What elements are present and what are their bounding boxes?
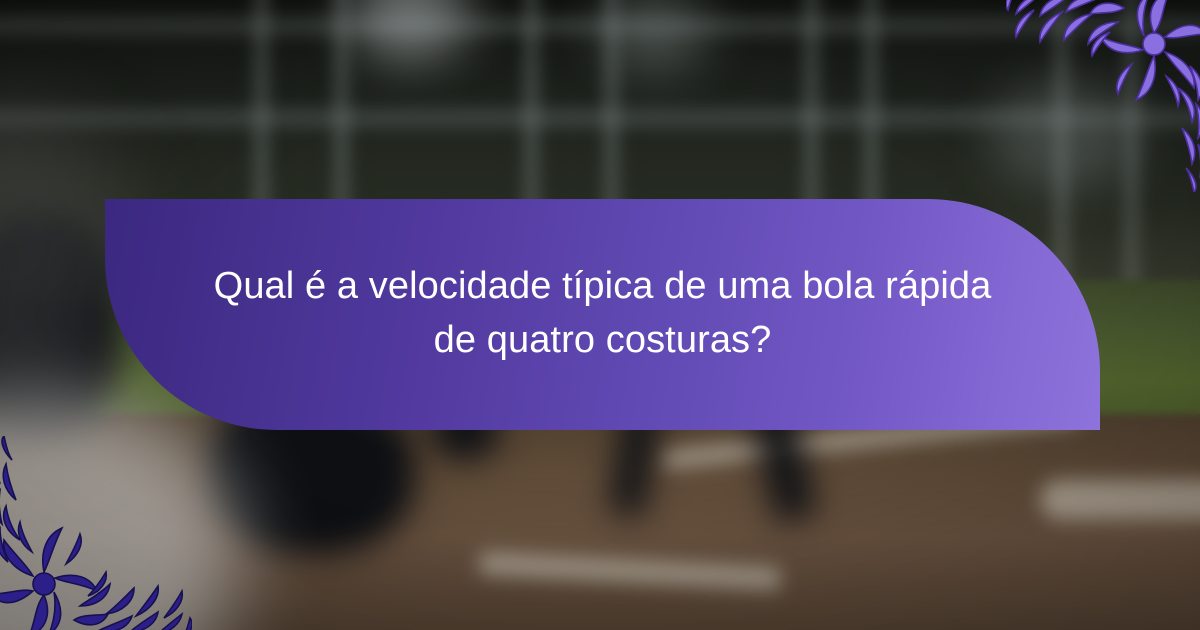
- floral-damask-corner-icon: [1006, 0, 1200, 192]
- question-text: Qual é a velocidade típica de uma bola r…: [208, 260, 998, 370]
- question-card: Qual é a velocidade típica de uma bola r…: [105, 199, 1100, 430]
- slide-canvas: Qual é a velocidade típica de uma bola r…: [0, 0, 1200, 630]
- floral-damask-corner-icon: [0, 436, 192, 630]
